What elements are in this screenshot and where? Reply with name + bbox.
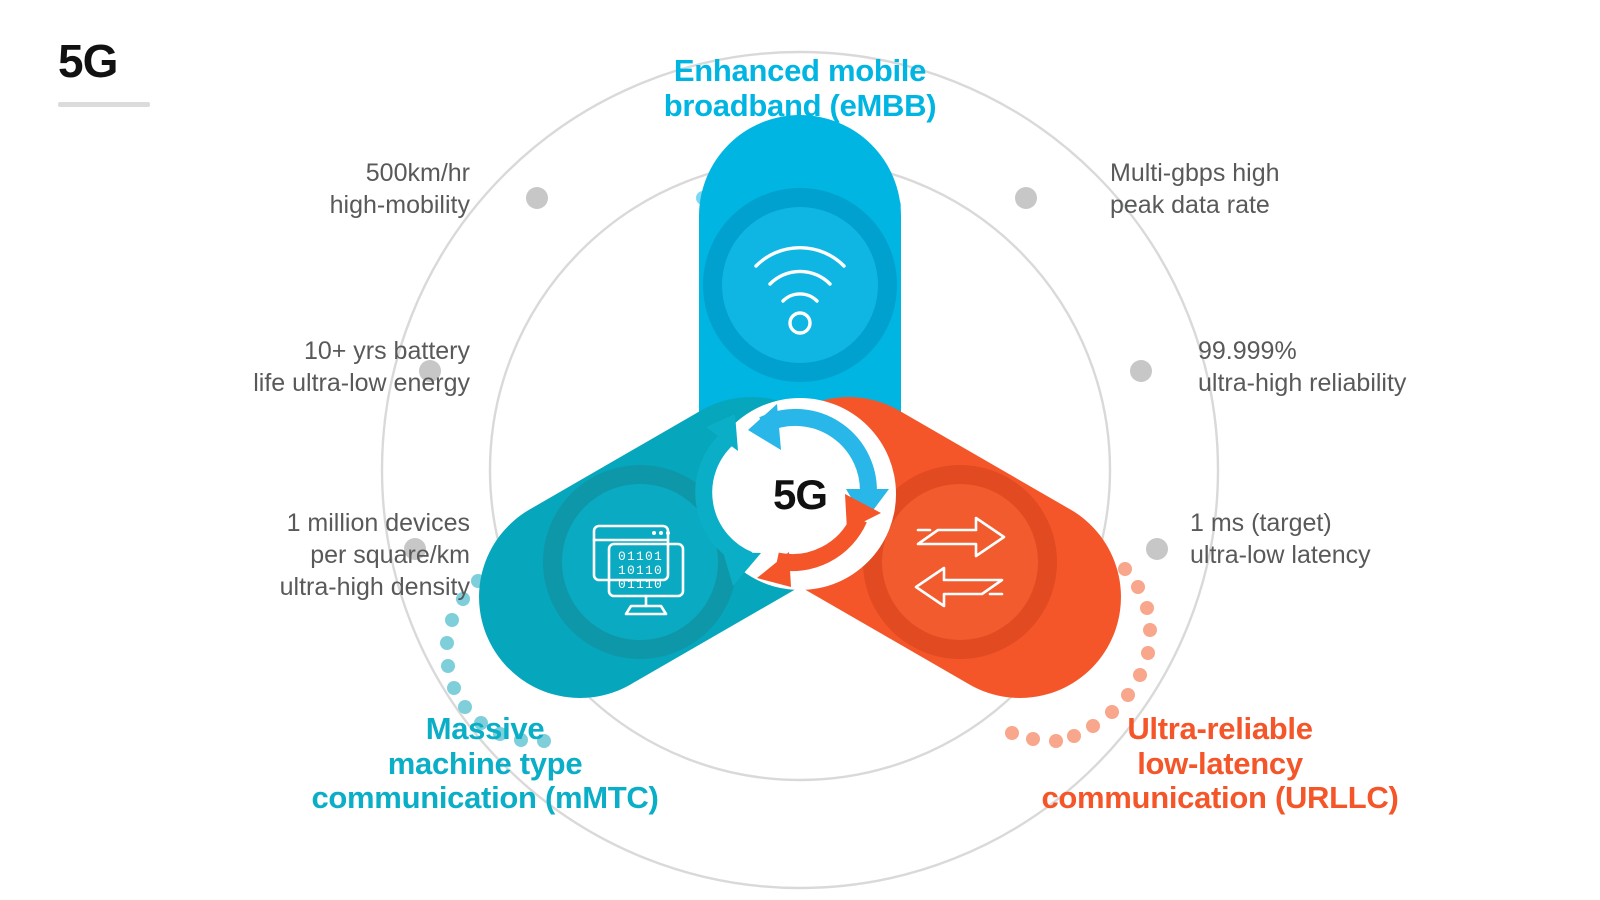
callout-peak-data-rate: Multi-gbps high peak data rate — [1110, 158, 1530, 222]
urllc-cap-inner — [882, 484, 1038, 640]
binary-row-1: 01101 — [618, 549, 663, 564]
callout-line: Multi-gbps high — [1110, 158, 1530, 190]
hub-5g-label: 5G — [773, 471, 827, 518]
callout-line: peak data rate — [1110, 190, 1530, 222]
callout-line: ultra-low latency — [1190, 540, 1590, 572]
binary-row-2: 10110 — [618, 563, 663, 578]
callout-line: 500km/hr — [90, 158, 470, 190]
heading-urllc-line1: Ultra-reliable — [960, 712, 1480, 747]
heading-mmtc-line1: Massive — [255, 712, 715, 747]
callout-line: high-mobility — [90, 190, 470, 222]
binary-row-3: 01110 — [618, 577, 663, 592]
callout-line: 1 million devices — [60, 508, 470, 540]
center-hub[interactable]: 5G — [704, 398, 896, 590]
callout-line: ultra-high reliability — [1198, 368, 1598, 400]
callout-line: 10+ yrs battery — [30, 336, 470, 368]
callout-battery-life: 10+ yrs battery life ultra-low energy — [30, 336, 470, 400]
callout-line: per square/km — [60, 540, 470, 572]
callout-line: life ultra-low energy — [30, 368, 470, 400]
heading-mmtc-line3: communication (mMTC) — [255, 781, 715, 816]
heading-urllc-line2: low-latency — [960, 747, 1480, 782]
heading-embb-line1: Enhanced mobile — [540, 54, 1060, 89]
heading-embb: Enhanced mobile broadband (eMBB) — [540, 54, 1060, 123]
heading-urllc: Ultra-reliable low-latency communication… — [960, 712, 1480, 816]
callout-latency: 1 ms (target) ultra-low latency — [1190, 508, 1590, 572]
embb-cap-inner — [722, 207, 878, 363]
callout-high-mobility: 500km/hr high-mobility — [90, 158, 470, 222]
infographic-canvas: 5G — [0, 0, 1600, 900]
callout-reliability: 99.999% ultra-high reliability — [1198, 336, 1598, 400]
callout-line: 99.999% — [1198, 336, 1598, 368]
heading-mmtc: Massive machine type communication (mMTC… — [255, 712, 715, 816]
heading-mmtc-line2: machine type — [255, 747, 715, 782]
heading-embb-line2: broadband (eMBB) — [540, 89, 1060, 124]
heading-urllc-line3: communication (URLLC) — [960, 781, 1480, 816]
callout-line: ultra-high density — [60, 572, 470, 604]
callout-device-density: 1 million devices per square/km ultra-hi… — [60, 508, 470, 603]
callout-line: 1 ms (target) — [1190, 508, 1590, 540]
